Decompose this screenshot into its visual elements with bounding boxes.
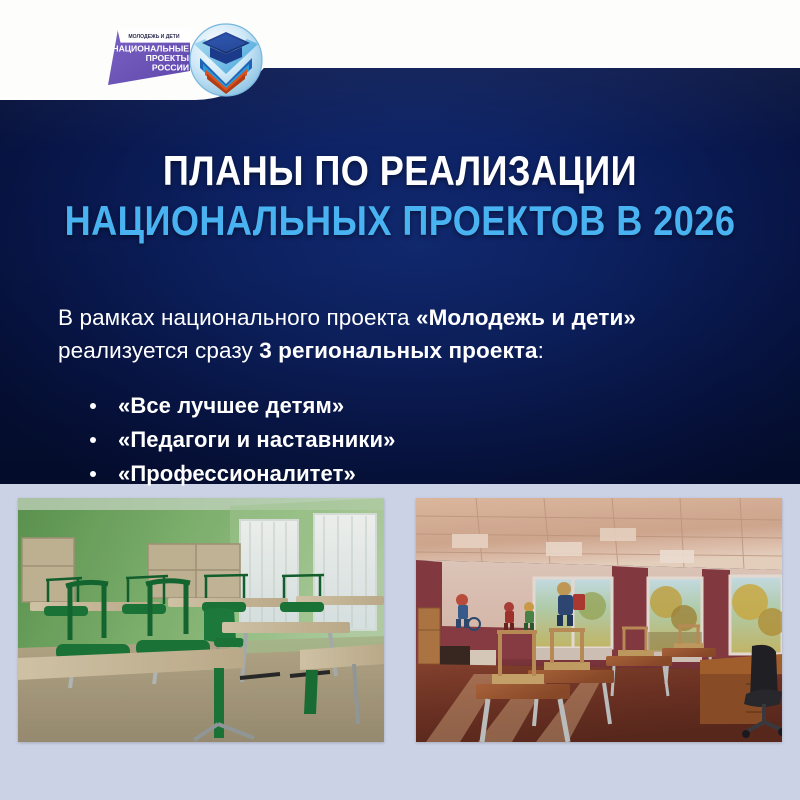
logo-top-label: МОЛОДЕЖЬ И ДЕТИ bbox=[128, 34, 179, 40]
regional-projects-list: «Все лучшее детям» «Педагоги и наставник… bbox=[58, 389, 758, 491]
classroom-red-photo bbox=[416, 498, 782, 742]
title-line-1: ПЛАНЫ ПО РЕАЛИЗАЦИИ bbox=[56, 146, 744, 196]
graduation-cap-emblem bbox=[188, 22, 264, 98]
photo-band bbox=[0, 484, 800, 760]
lead-part-2: реализуется сразу bbox=[58, 338, 259, 363]
logo-line-2: ПРОЕКТЫ bbox=[146, 53, 189, 63]
lead-part-1: В рамках национального проекта bbox=[58, 305, 416, 330]
body-block: В рамках национального проекта «Молодежь… bbox=[58, 278, 758, 491]
list-item: «Педагоги и наставники» bbox=[88, 423, 758, 457]
logo-line-3: РОССИИ bbox=[152, 63, 189, 73]
poster-root: МОЛОДЕЖЬ И ДЕТИ НАЦИОНАЛЬНЫЕ ПРОЕКТЫ РОС… bbox=[0, 0, 800, 800]
classroom-green-photo bbox=[18, 498, 384, 742]
lead-paragraph: В рамках национального проекта «Молодежь… bbox=[58, 301, 758, 367]
title-line-2: НАЦИОНАЛЬНЫХ ПРОЕКТОВ В 2026 bbox=[56, 196, 744, 246]
national-projects-logo: МОЛОДЕЖЬ И ДЕТИ НАЦИОНАЛЬНЫЕ ПРОЕКТЫ РОС… bbox=[100, 27, 192, 89]
list-item: «Все лучшее детям» bbox=[88, 389, 758, 423]
logo-line-1: НАЦИОНАЛЬНЫЕ bbox=[112, 44, 189, 54]
footer-navy-strip bbox=[0, 760, 800, 800]
lead-bold-2: 3 региональных проекта bbox=[259, 338, 537, 363]
page-title: ПЛАНЫ ПО РЕАЛИЗАЦИИ НАЦИОНАЛЬНЫХ ПРОЕКТО… bbox=[0, 146, 800, 246]
lead-part-3: : bbox=[538, 338, 544, 363]
list-item: «Профессионалитет» bbox=[88, 457, 758, 491]
logo-row: МОЛОДЕЖЬ И ДЕТИ НАЦИОНАЛЬНЫЕ ПРОЕКТЫ РОС… bbox=[0, 0, 800, 68]
lead-bold-1: «Молодежь и дети» bbox=[416, 305, 636, 330]
